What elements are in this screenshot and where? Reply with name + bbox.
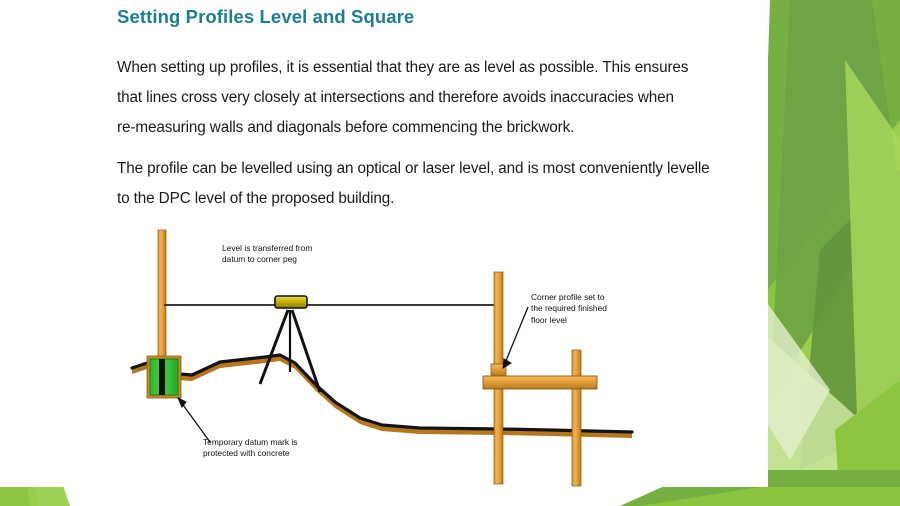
label-datum-mark-line-1: Temporary datum mark is xyxy=(203,437,297,448)
leader-datum-mark-arrow xyxy=(178,398,186,407)
label-level-transfer-line-2: datum to corner peg xyxy=(222,254,312,265)
slide: Setting Profiles Level and Square When s… xyxy=(0,0,900,506)
body-paragraph-1: When setting up profiles, it is essentia… xyxy=(117,53,777,143)
leader-corner-profile-arrow xyxy=(503,359,511,368)
label-corner-profile-line-2: the required finished xyxy=(531,303,607,314)
tripod-leg-left xyxy=(260,310,288,384)
label-level-transfer-line-1: Level is transferred from xyxy=(222,243,312,254)
paragraph-1-line-2: that lines cross very closely at interse… xyxy=(117,83,777,113)
paragraph-1-line-3: re-measuring walls and diagonals before … xyxy=(117,113,777,143)
label-datum-mark: Temporary datum mark is protected with c… xyxy=(203,437,297,460)
datum-peg xyxy=(159,359,165,395)
corner-profile-crossbar xyxy=(483,376,597,389)
ground-line xyxy=(132,355,632,432)
label-corner-profile: Corner profile set to the required finis… xyxy=(531,292,607,326)
label-corner-profile-line-3: floor level xyxy=(531,315,607,326)
corner-profile-post-right xyxy=(572,350,581,486)
leader-corner-profile xyxy=(503,307,528,368)
body-paragraph-2: The profile can be levelled using an opt… xyxy=(117,154,817,214)
paragraph-2-line-2: to the DPC level of the proposed buildin… xyxy=(117,184,817,214)
page-title: Setting Profiles Level and Square xyxy=(117,4,737,30)
paragraph-1-line-1: When setting up profiles, it is essentia… xyxy=(117,53,777,83)
optical-level-instrument xyxy=(275,296,307,308)
label-level-transfer: Level is transferred from datum to corne… xyxy=(222,243,312,266)
label-datum-mark-line-2: protected with concrete xyxy=(203,448,297,459)
leader-lines xyxy=(178,307,528,442)
paragraph-2-line-1: The profile can be levelled using an opt… xyxy=(117,154,817,184)
label-corner-profile-line-1: Corner profile set to xyxy=(531,292,607,303)
